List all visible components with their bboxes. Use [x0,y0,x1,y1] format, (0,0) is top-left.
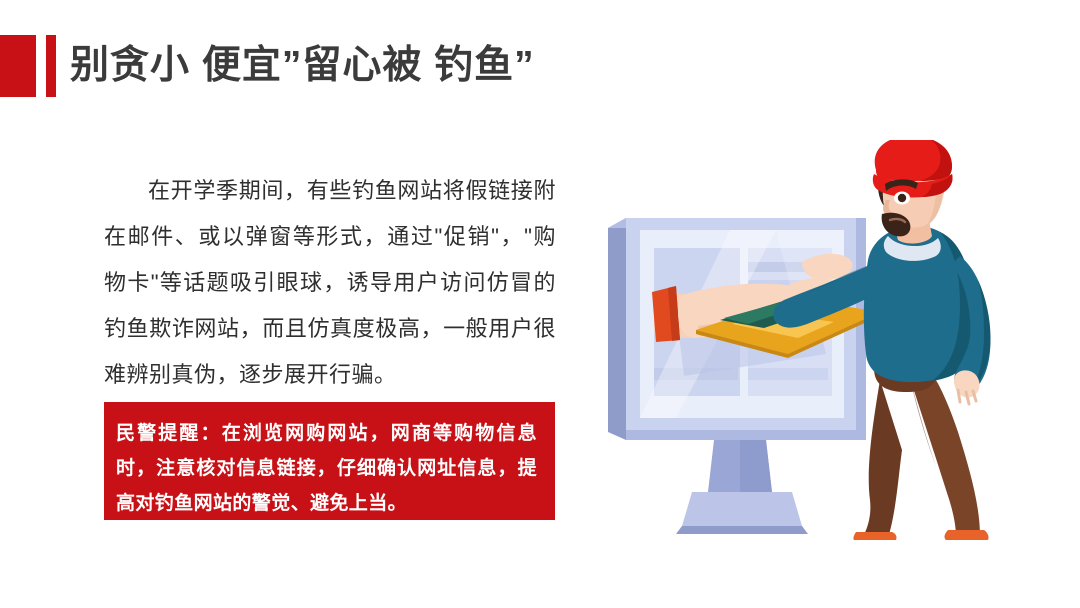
page-header: 别贪小 便宜”留心被 钓鱼” [0,35,535,97]
callout-label: 民警提醒： [116,423,222,444]
phishing-scam-illustration [580,140,1080,540]
police-reminder-callout: 民警提醒：在浏览网购网站，网商等购物信息时，注意核对信息链接，仔细确认网址信息，… [104,402,555,520]
body-paragraph: 在开学季期间，有些钓鱼网站将假链接附在邮件、或以弹窗等形式，通过"促销"，"购物… [104,168,556,398]
callout-body: 民警提醒：在浏览网购网站，网商等购物信息时，注意核对信息链接，仔细确认网址信息，… [116,416,537,521]
accent-bar-icon [46,35,56,97]
accent-block-icon [0,35,36,97]
page-title: 别贪小 便宜”留心被 钓鱼” [70,35,535,97]
slide-canvas: 别贪小 便宜”留心被 钓鱼” 在开学季期间，有些钓鱼网站将假链接附在邮件、或以弹… [0,0,1080,608]
